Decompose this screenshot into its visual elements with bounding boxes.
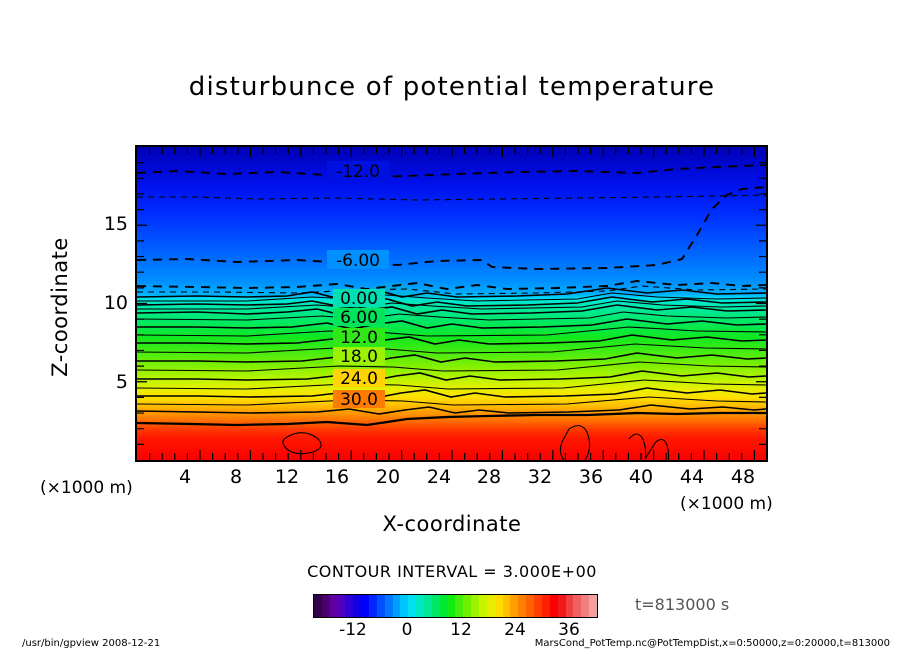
cbar-cell xyxy=(558,595,566,617)
contour-label-24: 24.0 xyxy=(340,369,378,389)
cbar-cell xyxy=(534,595,542,617)
cbar-cell xyxy=(566,595,574,617)
y-axis-unit: (×1000 m) xyxy=(40,478,133,498)
colorbar xyxy=(313,594,598,618)
colorbar-tick-neg12: -12 xyxy=(323,620,383,640)
cbar-cell xyxy=(495,595,503,617)
cbar-cell xyxy=(550,595,558,617)
contour-label-12: 12.0 xyxy=(340,328,378,348)
cbar-cell xyxy=(542,595,550,617)
cbar-cell xyxy=(361,595,369,617)
contour-label-neg12: -12.0 xyxy=(336,162,380,182)
cbar-cell xyxy=(487,595,495,617)
y-tick-10: 10 xyxy=(88,292,128,314)
cbar-cell xyxy=(581,595,589,617)
cbar-cell xyxy=(510,595,518,617)
cbar-cell xyxy=(471,595,479,617)
y-tick-5: 5 xyxy=(88,371,128,393)
footer-right: MarsCond_PotTemp.nc@PotTempDist,x=0:5000… xyxy=(535,638,890,649)
cbar-cell xyxy=(330,595,338,617)
x-tick-4: 4 xyxy=(165,466,205,488)
footer-left: /usr/bin/gpview 2008-12-21 xyxy=(22,638,160,649)
cbar-cell xyxy=(345,595,353,617)
x-tick-12: 12 xyxy=(267,466,307,488)
cbar-cell xyxy=(400,595,408,617)
x-axis-unit: (×1000 m) xyxy=(680,494,773,514)
cbar-cell xyxy=(416,595,424,617)
contour-label-18: 18.0 xyxy=(340,347,378,367)
page-title: disturbunce of potential temperature xyxy=(0,72,904,102)
colorbar-tick-24: 24 xyxy=(485,620,545,640)
cbar-cell xyxy=(385,595,393,617)
cbar-cell xyxy=(526,595,534,617)
x-tick-20: 20 xyxy=(368,466,408,488)
contour-plot: -12.0 -6.00 0.00 6.00 12.0 18.0 24.0 30.… xyxy=(135,145,768,462)
cbar-cell xyxy=(408,595,416,617)
cbar-cell xyxy=(338,595,346,617)
time-label: t=813000 s xyxy=(635,595,729,614)
x-tick-44: 44 xyxy=(672,466,712,488)
cbar-cell xyxy=(322,595,330,617)
x-tick-8: 8 xyxy=(216,466,256,488)
x-tick-16: 16 xyxy=(317,466,357,488)
x-tick-36: 36 xyxy=(571,466,611,488)
y-tick-15: 15 xyxy=(88,213,128,235)
cbar-cell xyxy=(479,595,487,617)
x-tick-28: 28 xyxy=(469,466,509,488)
contour-label-30: 30.0 xyxy=(340,390,378,410)
x-tick-24: 24 xyxy=(419,466,459,488)
cbar-cell xyxy=(377,595,385,617)
contour-label-0: 0.00 xyxy=(340,289,378,309)
cbar-cell xyxy=(314,595,322,617)
x-tick-48: 48 xyxy=(723,466,763,488)
cbar-cell xyxy=(573,595,581,617)
cbar-cell xyxy=(369,595,377,617)
cbar-cell xyxy=(589,595,597,617)
cbar-cell xyxy=(424,595,432,617)
x-tick-40: 40 xyxy=(621,466,661,488)
x-tick-32: 32 xyxy=(520,466,560,488)
contour-plot-svg: -12.0 -6.00 0.00 6.00 12.0 18.0 24.0 30.… xyxy=(137,147,766,460)
contour-label-neg6: -6.00 xyxy=(336,251,380,271)
colorbar-tick-0: 0 xyxy=(377,620,437,640)
cbar-cell xyxy=(393,595,401,617)
cbar-cell xyxy=(440,595,448,617)
cbar-cell xyxy=(518,595,526,617)
cbar-cell xyxy=(463,595,471,617)
contour-interval-label: CONTOUR INTERVAL = 3.000E+00 xyxy=(0,562,904,581)
colorbar-tick-36: 36 xyxy=(539,620,599,640)
x-axis-label: X-coordinate xyxy=(0,512,904,536)
cbar-cell xyxy=(432,595,440,617)
y-axis-label: Z-coordinate xyxy=(48,207,72,407)
colorbar-tick-12: 12 xyxy=(431,620,491,640)
cbar-cell xyxy=(455,595,463,617)
cbar-cell xyxy=(353,595,361,617)
cbar-cell xyxy=(448,595,456,617)
cbar-cell xyxy=(503,595,511,617)
contour-label-6: 6.00 xyxy=(340,308,378,328)
